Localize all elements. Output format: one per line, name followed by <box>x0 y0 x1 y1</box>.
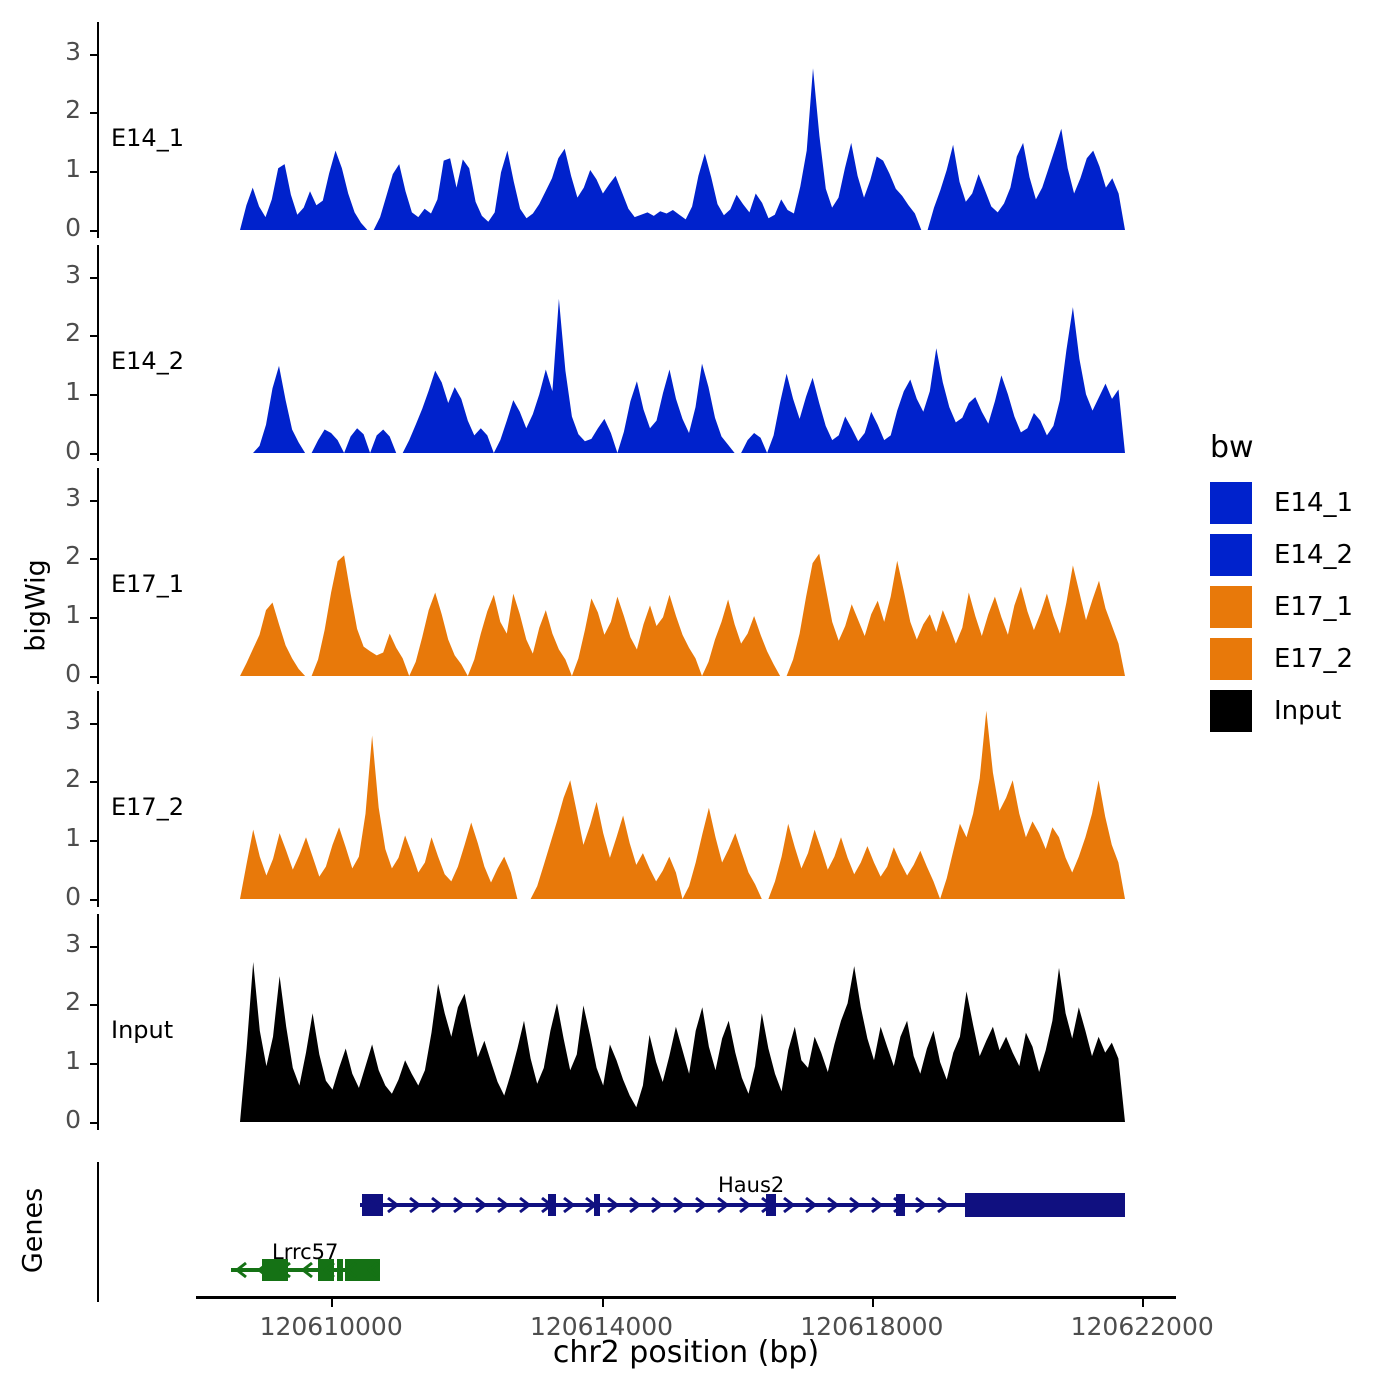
x-tick <box>1142 1299 1144 1307</box>
x-tick <box>331 1299 333 1307</box>
legend-swatch <box>1210 482 1252 524</box>
genes-graphic <box>0 1150 1200 1300</box>
legend-label: E14_2 <box>1274 540 1353 570</box>
track-area-e17_1 <box>0 476 1200 680</box>
x-tick-label: 120622000 <box>1022 1312 1262 1341</box>
legend-label: E14_1 <box>1274 488 1353 518</box>
gene-label-lrrc57: Lrrc57 <box>272 1240 338 1264</box>
x-axis-title: chr2 position (bp) <box>396 1335 976 1370</box>
track-area-e14_1 <box>0 30 1200 234</box>
legend-item-input[interactable]: Input <box>1210 690 1341 732</box>
legend-item-e17_2[interactable]: E17_2 <box>1210 638 1353 680</box>
track-area-e14_2 <box>0 253 1200 457</box>
gene-label-haus2: Haus2 <box>718 1173 784 1197</box>
legend-title: bw <box>1210 430 1254 465</box>
legend-label: Input <box>1274 696 1341 726</box>
track-area-input <box>0 922 1200 1126</box>
legend-item-e17_1[interactable]: E17_1 <box>1210 586 1353 628</box>
x-tick <box>872 1299 874 1307</box>
legend-item-e14_2[interactable]: E14_2 <box>1210 534 1353 576</box>
legend-swatch <box>1210 690 1252 732</box>
x-axis-line <box>196 1296 1176 1299</box>
legend-label: E17_2 <box>1274 644 1353 674</box>
track-area-e17_2 <box>0 699 1200 903</box>
legend-item-e14_1[interactable]: E14_1 <box>1210 482 1353 524</box>
legend-swatch <box>1210 586 1252 628</box>
legend-label: E17_1 <box>1274 592 1353 622</box>
x-tick <box>602 1299 604 1307</box>
legend-swatch <box>1210 534 1252 576</box>
legend-swatch <box>1210 638 1252 680</box>
